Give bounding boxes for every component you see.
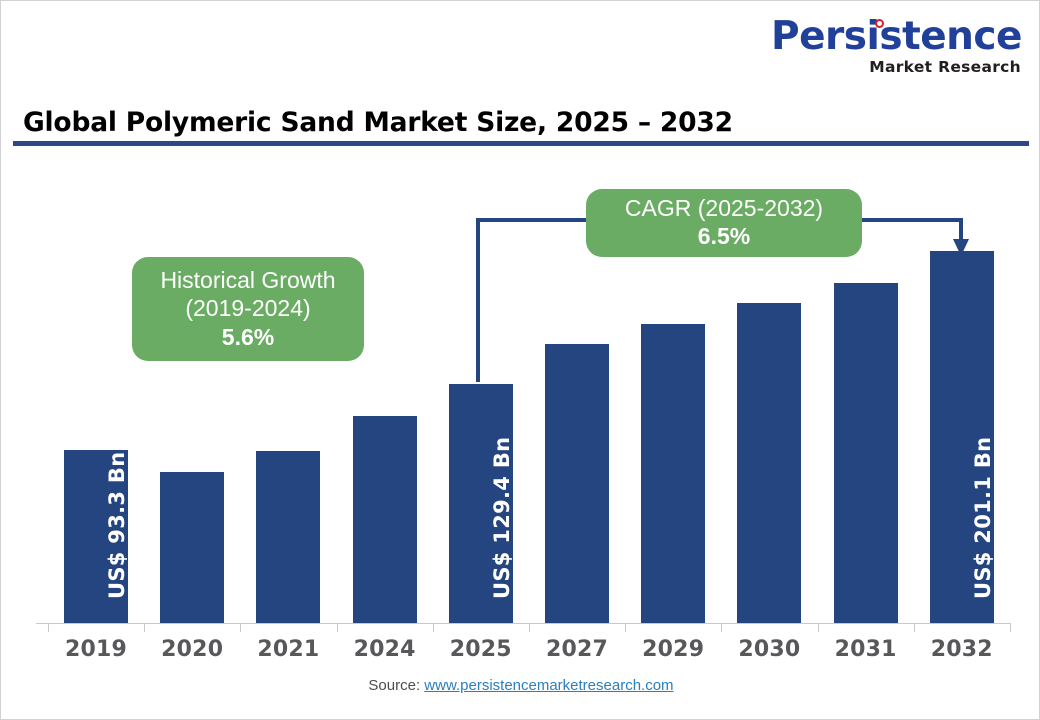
bar-value-label-2032: US$ 201.1 Bn: [971, 437, 995, 599]
historical-growth-value: 5.6%: [222, 323, 274, 353]
x-axis-tick-2030: [721, 623, 722, 632]
cagr-line1: CAGR (2025-2032): [625, 194, 823, 223]
cagr-value: 6.5%: [698, 222, 750, 252]
source-note: Source: www.persistencemarketresearch.co…: [1, 677, 1040, 694]
bar-2021: [256, 451, 320, 623]
source-link[interactable]: www.persistencemarketresearch.com: [424, 677, 673, 694]
x-axis-label-2020: 2020: [144, 637, 240, 662]
source-prefix: Source:: [368, 677, 424, 694]
x-axis-tick-2020: [144, 623, 145, 632]
bar-value-label-2025: US$ 129.4 Bn: [490, 437, 514, 599]
bar-2027: [545, 344, 609, 623]
x-axis-tick-2024: [337, 623, 338, 632]
x-axis-label-2029: 2029: [625, 637, 721, 662]
bar-2031: [834, 283, 898, 623]
x-axis-tick-2027: [529, 623, 530, 632]
historical-growth-line1: Historical Growth: [160, 266, 335, 295]
bar-2029: [641, 324, 705, 623]
x-axis-label-2031: 2031: [818, 637, 914, 662]
x-axis-tick-2025: [433, 623, 434, 632]
x-axis-tick-2029: [625, 623, 626, 632]
x-axis-label-2030: 2030: [721, 637, 817, 662]
x-axis-tick-2019: [48, 623, 49, 632]
x-axis-line: [36, 623, 1011, 624]
x-axis-tick-end: [1010, 623, 1011, 632]
bar-2024: [353, 416, 417, 623]
cagr-callout: CAGR (2025-2032) 6.5%: [586, 189, 862, 257]
x-axis-label-2027: 2027: [529, 637, 625, 662]
x-axis-tick-2021: [240, 623, 241, 632]
chart-page: Persistence Market Research Global Polym…: [0, 0, 1040, 720]
x-axis-label-2025: 2025: [433, 637, 529, 662]
bar-2020: [160, 472, 224, 623]
x-axis-label-2024: 2024: [337, 637, 433, 662]
historical-growth-line2: (2019-2024): [185, 294, 310, 323]
x-axis-label-2019: 2019: [48, 637, 144, 662]
bar-value-label-2019: US$ 93.3 Bn: [105, 452, 129, 599]
x-axis-tick-2031: [818, 623, 819, 632]
x-axis-tick-2032: [914, 623, 915, 632]
x-axis-label-2032: 2032: [914, 637, 1010, 662]
historical-growth-callout: Historical Growth (2019-2024) 5.6%: [132, 257, 364, 361]
x-axis-label-2021: 2021: [240, 637, 336, 662]
bar-2030: [737, 303, 801, 623]
